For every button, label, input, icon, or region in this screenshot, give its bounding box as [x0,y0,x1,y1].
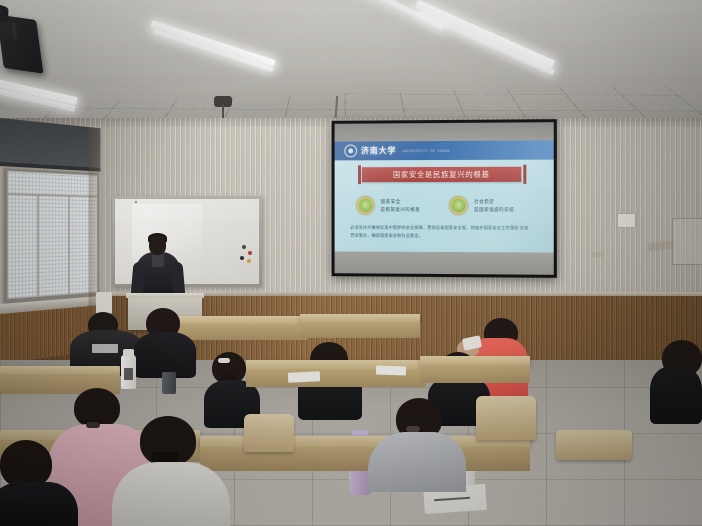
hair-tie [406,426,420,432]
ceiling [0,0,702,132]
jacket-logo [92,344,118,353]
slide-point-2-text: 社会稳定 是国家强盛的前提 [474,199,514,213]
speaker-mount [11,23,17,40]
student-grey-hoodie [368,432,466,492]
desk-mid-2-front [420,365,530,383]
whiteboard-magnet [240,256,244,260]
desk-back-1-front [178,324,308,340]
slide-body-text: 必须坚持不懈地实现中国梦的安全保障，贯彻总体国家安全观，把维护国家安全工作落到 … [350,225,533,242]
student-front-left-head [0,440,52,488]
sill-object [96,292,112,314]
slide-point-1-line2: 是民族复兴的根基 [381,206,420,212]
ceiling-shading [0,0,702,132]
slide-point-2-line1: 社会稳定 [474,199,514,205]
presentation-slide: 济南大学 UNIVERSITY OF JINAN 国家安全是民族复兴的根基 国家… [335,140,554,258]
tumbler-dark [162,372,176,394]
whiteboard-magnet [247,259,251,263]
slide-body-line-1: 必须坚持不懈地实现中国梦的安全保障，贯彻总体国家安全观，把维护国家安全工作落到 … [350,225,533,231]
lectern-top [126,293,204,298]
screen-bottom-band [335,251,554,274]
student-front-left [0,482,78,526]
seat-right [556,430,632,460]
whiteboard-magnet [248,251,252,255]
wall-panel-box [672,218,702,265]
window-pane-center [38,195,69,297]
seat-back-right [476,396,536,440]
projection-screen: 济南大学 UNIVERSITY OF JINAN 国家安全是民族复兴的根基 国家… [332,119,557,278]
notebook [288,371,320,383]
window-pane-left [7,194,38,299]
screen-top-band [335,122,554,141]
slide-header-band: 济南大学 UNIVERSITY OF JINAN [335,140,554,160]
desk-mid-2 [420,356,530,365]
seat-mid [244,414,294,452]
student-white-hoodie [112,462,230,526]
slide-title-banner: 国家安全是民族复兴的根基 [362,167,521,182]
national-emblem-icon [356,196,375,215]
whiteboard-mark [135,201,137,203]
lecturer [149,235,166,255]
slide-point-2-line2: 是国家强盛的前提 [474,207,514,213]
desk-back-2 [300,314,420,322]
hair-tie [218,358,230,363]
window-pane-top [7,170,97,196]
slide-point-1: 国家安全 是民族复兴的根基 [356,196,420,215]
desk-back-2-front [300,322,420,338]
student-far-right [650,366,702,424]
paper-sheet [376,365,406,375]
bottle-label [124,368,133,380]
title-tick-right [523,165,526,184]
water-bottle-white-cap [123,349,134,356]
slide-point-1-text: 国家安全 是民族复兴的根基 [381,199,420,213]
slide-title: 国家安全是民族复兴的根基 [393,169,490,180]
left-window-wall [0,118,101,328]
classroom-photo: 济南大学 UNIVERSITY OF JINAN 国家安全是民族复兴的根基 国家… [0,0,702,526]
desk-back-1 [178,316,308,324]
desk-left-1 [0,366,120,374]
screen-surface: 济南大学 UNIVERSITY OF JINAN 国家安全是民族复兴的根基 国家… [335,122,554,275]
university-name-sub: UNIVERSITY OF JINAN [402,148,450,152]
wall-mark-2 [592,252,604,257]
university-seal-icon [344,144,357,157]
hair-tie [86,422,100,428]
national-emblem-icon [449,196,468,215]
slide-body-line-2: 贯彻落实，确保国家安全和社会稳定。 [350,233,533,239]
slide-point-1-line1: 国家安全 [381,199,420,205]
slide-point-2: 社会稳定 是国家强盛的前提 [449,196,514,215]
title-tick-left [358,165,361,184]
university-name: 济南大学 [361,145,396,156]
window-frame [2,166,101,306]
wall-power-outlet [617,213,636,228]
whiteboard-magnet [242,245,246,249]
